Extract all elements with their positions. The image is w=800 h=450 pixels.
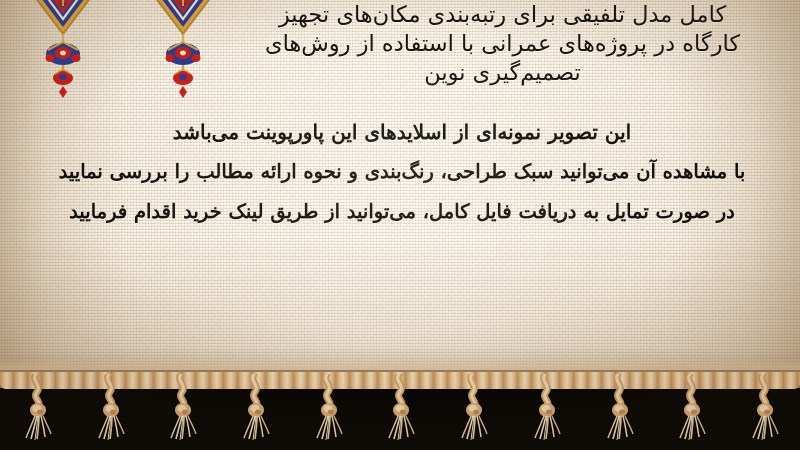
fringe-tassel xyxy=(95,374,129,440)
slide-title: کامل مدل تلفیقی برای رتبه‌بندی مکان‌های … xyxy=(210,1,795,88)
slide-body-text: این تصویر نمونه‌ای از اسلایدهای این پاور… xyxy=(24,112,780,232)
fringe-tassel xyxy=(458,374,492,440)
fringe-tassel xyxy=(240,374,274,440)
fringe-tassel xyxy=(22,374,56,440)
fringe-tassel xyxy=(313,374,347,440)
fringe-tassel xyxy=(676,374,710,440)
fringe-tassel xyxy=(749,374,783,440)
body-line-3: در صورت تمایل به دریافت فایل کامل، می‌تو… xyxy=(24,192,780,232)
title-line-1: کامل مدل تلفیقی برای رتبه‌بندی مکان‌های … xyxy=(210,1,795,30)
body-line-2: با مشاهده آن می‌توانید سبک طراحی، رنگ‌بن… xyxy=(24,152,780,192)
title-line-3: تصمیم‌گیری نوین xyxy=(210,59,795,88)
fringe-tassel xyxy=(385,374,419,440)
fringe-tassel xyxy=(604,374,638,440)
carpet-medallion-left-icon xyxy=(4,0,122,106)
fringe-tassel xyxy=(167,374,201,440)
fringe-tassel xyxy=(531,374,565,440)
body-line-1: این تصویر نمونه‌ای از اسلایدهای این پاور… xyxy=(24,112,780,152)
title-line-2: کارگاه در پروژه‌های عمرانی با استفاده از… xyxy=(210,30,795,59)
slide-canvas: کامل مدل تلفیقی برای رتبه‌بندی مکان‌های … xyxy=(0,0,800,450)
